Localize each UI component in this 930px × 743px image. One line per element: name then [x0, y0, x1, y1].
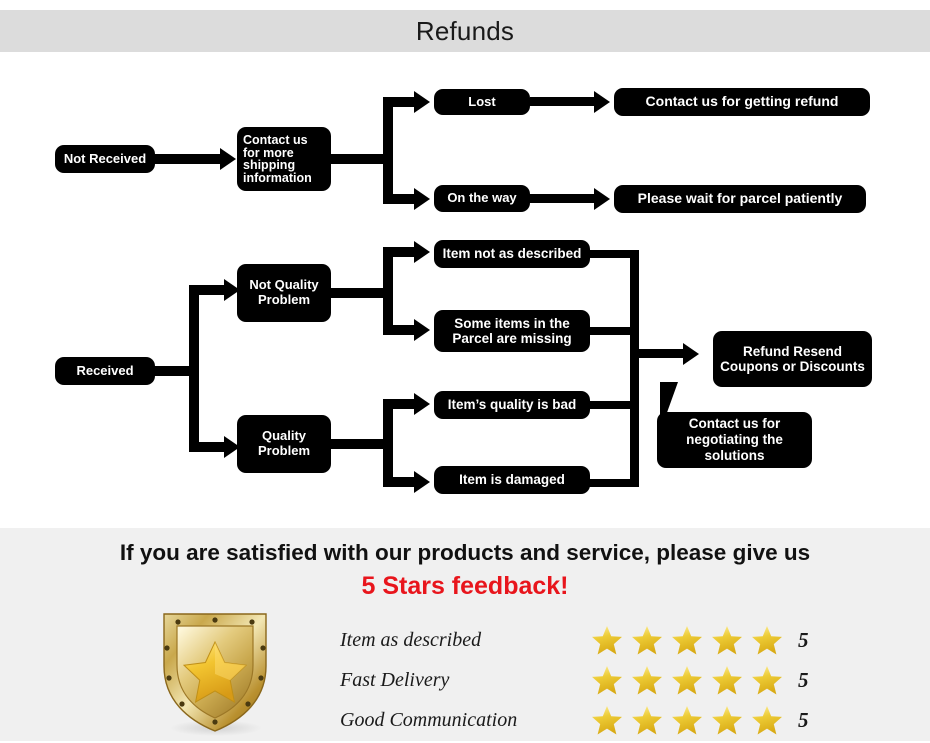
refund-flowchart: Not Received Contact us for more shippin… [0, 52, 930, 528]
rating-row: Item as described 5 [340, 620, 860, 660]
node-quality-problem-label: Quality Problem [245, 429, 323, 458]
rating-label: Item as described [340, 629, 590, 652]
gold-shield-star-badge [150, 600, 280, 738]
node-received: Received [55, 357, 155, 385]
star-icon [710, 703, 744, 737]
star-icon [750, 663, 784, 697]
rating-score: 5 [798, 708, 809, 733]
rating-label: Fast Delivery [340, 669, 590, 692]
star-icon [590, 703, 624, 737]
star-icon [710, 663, 744, 697]
connector-merge-to-resolution [630, 349, 690, 358]
star-icon [710, 623, 744, 657]
connector-ontheway-to-wait [530, 194, 602, 203]
node-negotiating-note-label: Contact us for negotiating the solutions [657, 416, 812, 465]
arrowhead-to-item-damaged [414, 471, 430, 493]
star-icon [750, 623, 784, 657]
feedback-panel: If you are satisfied with our products a… [0, 528, 930, 741]
connector-bus-top [383, 97, 393, 204]
star-icon [670, 703, 704, 737]
node-not-quality-problem-label: Not Quality Problem [245, 278, 323, 307]
node-not-received: Not Received [55, 145, 155, 173]
node-resolution: Refund Resend Coupons or Discounts [713, 331, 872, 387]
star-icon [670, 663, 704, 697]
arrowhead-to-item-not-described [414, 241, 430, 263]
rating-stars [590, 623, 784, 657]
connector-lost-to-refund [530, 97, 602, 106]
star-icon [590, 623, 624, 657]
connector-bus-to-not-quality [189, 285, 229, 295]
star-icon [750, 703, 784, 737]
arrowhead-to-quality-bad [414, 393, 430, 415]
node-please-wait: Please wait for parcel patiently [614, 185, 866, 213]
rating-score: 5 [798, 628, 809, 653]
node-on-the-way: On the way [434, 185, 530, 212]
page-title: Refunds [0, 10, 930, 52]
star-icon [670, 623, 704, 657]
rating-label: Good Communication [340, 709, 590, 732]
connector-bus-not-quality-issues [383, 247, 393, 335]
connector-bus-merge-all [630, 250, 639, 487]
node-item-damaged: Item is damaged [434, 466, 590, 494]
star-icon [630, 703, 664, 737]
feedback-callout: 5 Stars feedback! [0, 572, 930, 601]
rating-row: Good Communication 5 [340, 700, 860, 740]
arrowhead-to-please-wait [594, 188, 610, 210]
arrowhead-to-resolution [683, 343, 699, 365]
star-icon [630, 663, 664, 697]
connector-contact-trunk [331, 154, 391, 164]
connector-quality-trunk [331, 439, 391, 449]
arrowhead-to-getting-refund [594, 91, 610, 113]
arrowhead-to-contact [220, 148, 236, 170]
node-not-quality-problem: Not Quality Problem [237, 264, 331, 322]
rating-stars [590, 703, 784, 737]
ratings-list: Item as described 5 Fast Delivery 5 [340, 620, 860, 740]
connector-not-quality-trunk [331, 288, 391, 298]
rating-row: Fast Delivery 5 [340, 660, 860, 700]
connector-bus-to-quality [189, 442, 229, 452]
arrowhead-to-lost [414, 91, 430, 113]
node-items-missing: Some items in the Parcel are missing [434, 310, 590, 352]
node-items-missing-label: Some items in the Parcel are missing [440, 316, 584, 346]
arrowhead-to-ontheway [414, 188, 430, 210]
connector-bus-received [189, 285, 199, 452]
arrowhead-to-items-missing [414, 319, 430, 341]
connector-not-received-to-contact [155, 154, 225, 164]
node-contact-getting-refund: Contact us for getting refund [614, 88, 870, 116]
node-item-quality-bad: Item’s quality is bad [434, 391, 590, 419]
rating-score: 5 [798, 668, 809, 693]
node-negotiating-note: Contact us for negotiating the solutions [657, 412, 812, 468]
star-icon [590, 663, 624, 697]
node-contact-shipping-info: Contact us for more shipping information [237, 127, 331, 191]
feedback-headline: If you are satisfied with our products a… [0, 540, 930, 566]
node-quality-problem: Quality Problem [237, 415, 331, 473]
star-icon [630, 623, 664, 657]
node-contact-shipping-info-label: Contact us for more shipping information [243, 134, 325, 184]
rating-stars [590, 663, 784, 697]
node-lost: Lost [434, 89, 530, 115]
node-item-not-as-described: Item not as described [434, 240, 590, 268]
connector-bus-quality-issues [383, 399, 393, 487]
node-resolution-label: Refund Resend Coupons or Discounts [718, 344, 867, 374]
